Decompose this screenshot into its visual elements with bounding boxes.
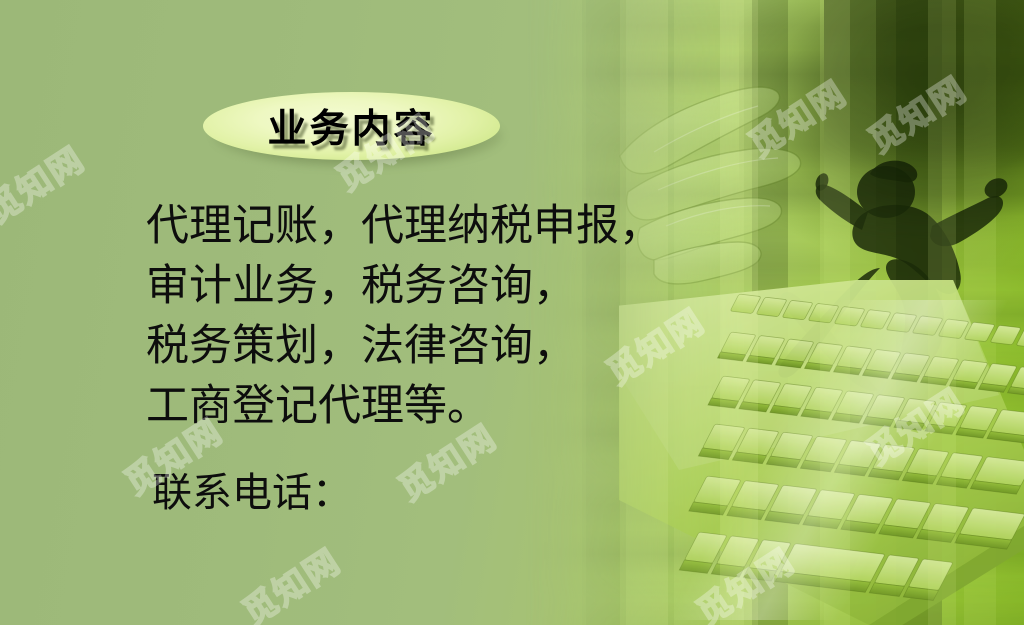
title-badge: 业务内容 <box>203 92 503 164</box>
service-line: 税务策划，法律咨询， <box>146 316 786 376</box>
service-line: 审计业务，税务咨询， <box>146 256 786 316</box>
poster-canvas: 业务内容 代理记账，代理纳税申报， 审计业务，税务咨询， 税务策划，法律咨询， … <box>0 0 1024 625</box>
service-line: 工商登记代理等。 <box>146 376 786 436</box>
service-line: 代理记账，代理纳税申报， <box>146 196 786 256</box>
service-list: 代理记账，代理纳税申报， 审计业务，税务咨询， 税务策划，法律咨询， 工商登记代… <box>146 196 786 436</box>
page-title: 业务内容 <box>203 92 500 160</box>
contact-phone-label: 联系电话： <box>152 466 352 520</box>
